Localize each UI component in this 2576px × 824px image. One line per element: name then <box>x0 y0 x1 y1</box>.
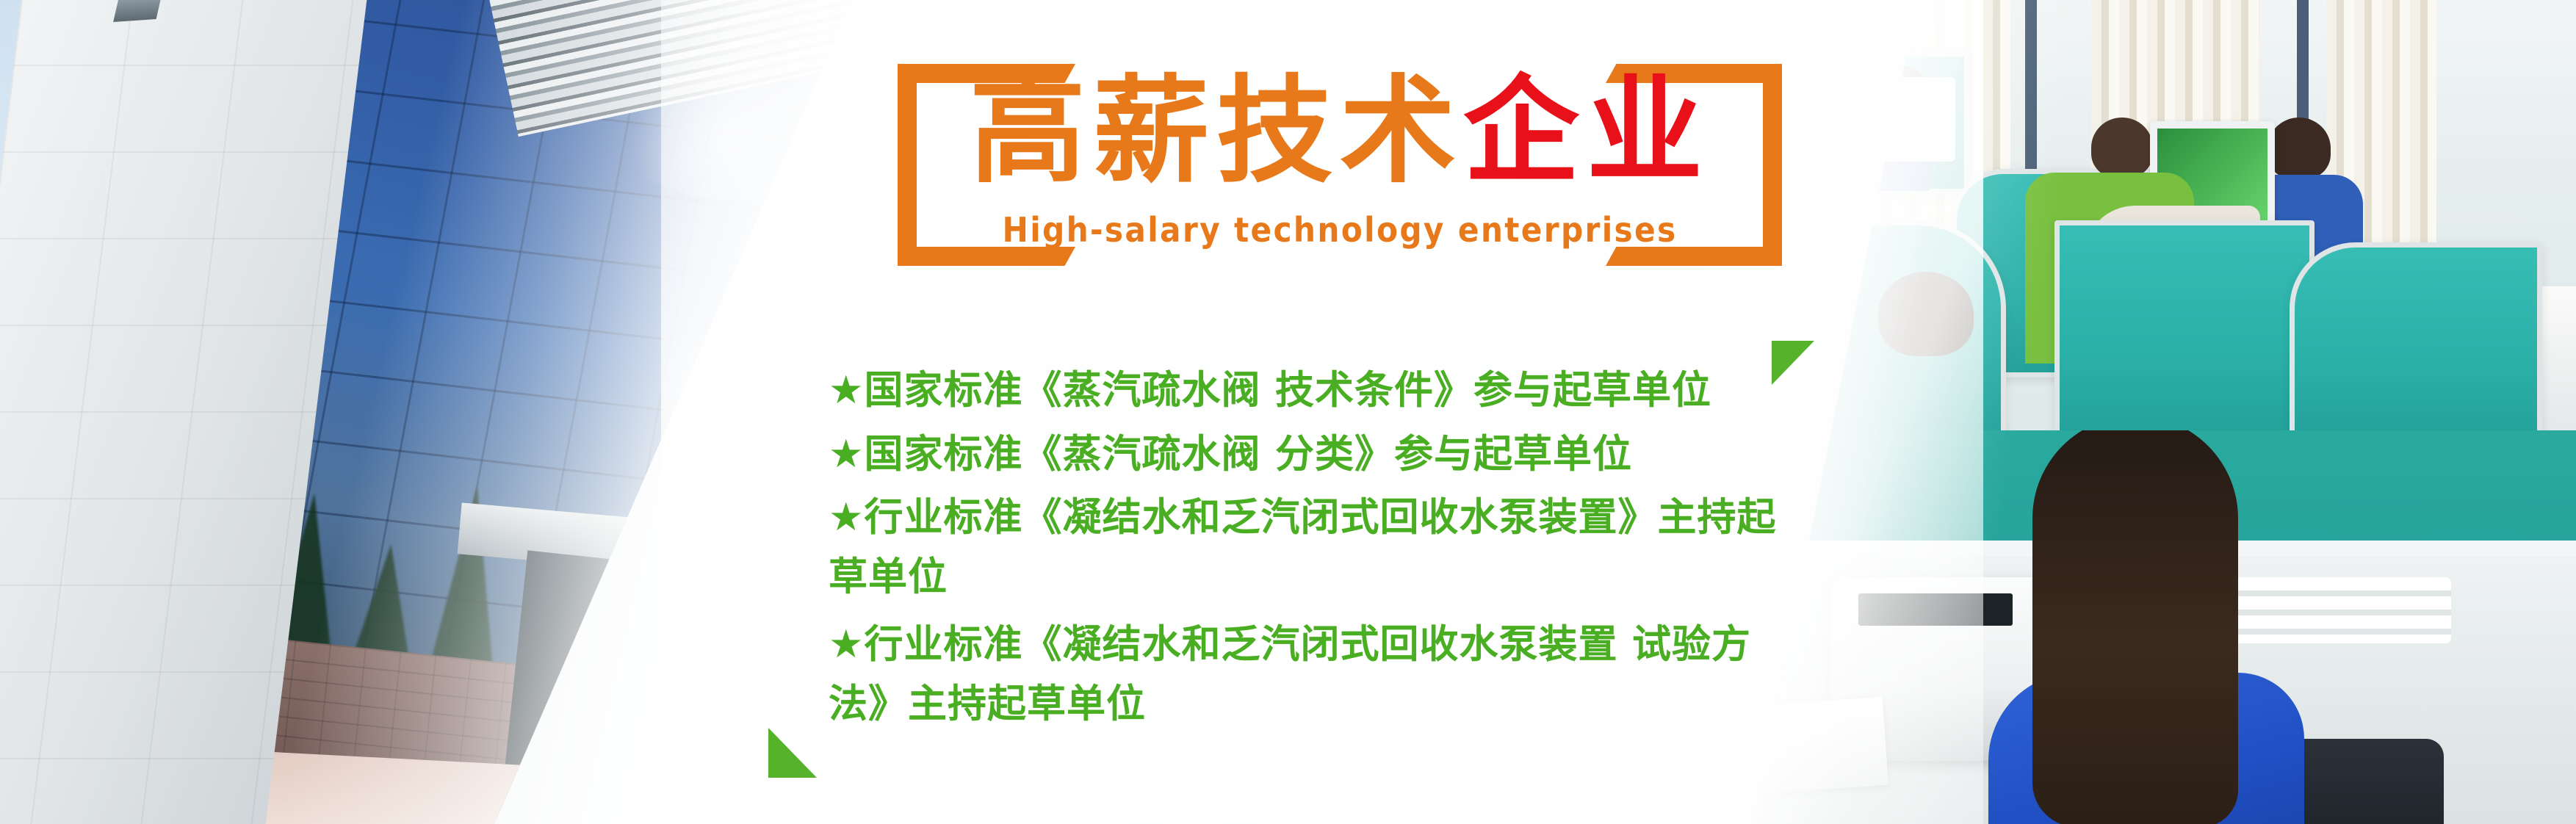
credentials-list: ★国家标准《蒸汽疏水阀 技术条件》参与起草单位 ★国家标准《蒸汽疏水阀 分类》参… <box>829 361 1805 742</box>
list-item: ★行业标准《凝结水和乏汽闭式回收水泵装置 试验方法》主持起草单位 <box>829 615 1805 734</box>
list-item: ★行业标准《凝结水和乏汽闭式回收水泵装置》主持起草单位 <box>829 488 1805 607</box>
banner-content: 高薪技术企业 High-salary technology enterprise… <box>0 0 2576 824</box>
list-item: ★国家标准《蒸汽疏水阀 分类》参与起草单位 <box>829 425 1805 485</box>
list-item: ★国家标准《蒸汽疏水阀 技术条件》参与起草单位 <box>829 361 1805 421</box>
title-primary: 高薪技术 <box>970 64 1463 199</box>
triangle-accent-top-right <box>1772 341 1814 385</box>
promo-banner: 高薪技术企业 High-salary technology enterprise… <box>0 0 2576 824</box>
banner-subtitle: High-salary technology enterprises <box>933 210 1747 250</box>
title-accent: 企业 <box>1463 64 1710 199</box>
banner-title: 高薪技术企业 <box>898 73 1782 189</box>
triangle-accent-bottom-left <box>768 728 817 778</box>
